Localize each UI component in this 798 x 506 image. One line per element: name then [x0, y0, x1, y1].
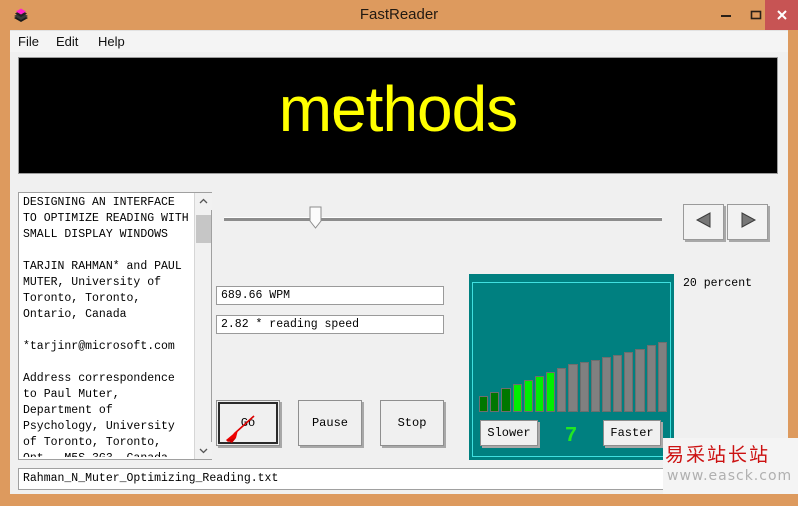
wpm-readout[interactable]: 689.66 WPM	[216, 286, 444, 305]
app-root: FastReader File Edit	[0, 0, 798, 506]
word-display-panel: methods	[18, 57, 778, 174]
close-button[interactable]	[765, 0, 798, 30]
speed-bar[interactable]	[524, 380, 533, 412]
speed-readout[interactable]: 2.82 * reading speed	[216, 315, 444, 334]
speed-bar[interactable]	[613, 355, 622, 412]
chevron-up-icon[interactable]	[195, 193, 212, 210]
speed-bar[interactable]	[535, 376, 544, 412]
next-arrow-icon	[737, 210, 759, 235]
status-bar-filename: Rahman_N_Muter_Optimizing_Reading.txt	[18, 468, 778, 490]
speed-bar[interactable]	[557, 368, 566, 412]
slower-button[interactable]: Slower	[480, 420, 538, 446]
speed-bar[interactable]	[602, 357, 611, 412]
document-text-panel[interactable]: DESIGNING AN INTERFACE TO OPTIMIZE READI…	[18, 192, 212, 460]
close-icon	[765, 0, 798, 30]
speed-bar[interactable]	[658, 342, 667, 412]
pause-button[interactable]: Pause	[298, 400, 362, 446]
speed-bar[interactable]	[490, 392, 499, 412]
chevron-down-icon[interactable]	[195, 442, 212, 459]
speed-bar[interactable]	[591, 360, 600, 412]
previous-arrow-icon	[693, 210, 715, 235]
menu-file[interactable]: File	[14, 33, 43, 51]
go-button[interactable]: Go	[216, 400, 280, 446]
client-area: methods DESIGNING AN INTERFACE TO OPTIMI…	[10, 52, 788, 494]
speed-level-panel: Slower 7 Faster	[469, 274, 674, 460]
current-word: methods	[19, 58, 777, 173]
stop-button[interactable]: Stop	[380, 400, 444, 446]
minimize-icon	[709, 0, 742, 30]
menu-help[interactable]: Help	[94, 33, 129, 51]
speed-bar[interactable]	[647, 345, 656, 412]
speed-bar[interactable]	[501, 388, 510, 412]
title-bar: FastReader	[0, 0, 798, 30]
speed-level-bars[interactable]	[479, 334, 667, 412]
scrollbar-thumb[interactable]	[196, 215, 211, 243]
text-panel-scrollbar[interactable]	[194, 193, 211, 459]
speed-bar[interactable]	[546, 372, 555, 412]
next-button[interactable]	[727, 204, 768, 240]
menu-edit[interactable]: Edit	[52, 33, 82, 51]
position-slider[interactable]	[216, 202, 666, 238]
speed-bar[interactable]	[635, 349, 644, 412]
faster-button[interactable]: Faster	[603, 420, 661, 446]
document-text: DESIGNING AN INTERFACE TO OPTIMIZE READI…	[23, 195, 191, 457]
speed-bar[interactable]	[568, 364, 577, 412]
menu-bar: File Edit Help	[10, 30, 788, 53]
speed-bar[interactable]	[479, 396, 488, 412]
slider-thumb[interactable]	[309, 206, 322, 230]
minimize-button[interactable]	[709, 0, 742, 30]
percent-label: 20 percent	[683, 277, 752, 290]
speed-level-value: 7	[551, 425, 591, 448]
speed-bar[interactable]	[624, 352, 633, 412]
speed-bar[interactable]	[513, 384, 522, 412]
window-title: FastReader	[0, 0, 798, 30]
previous-button[interactable]	[683, 204, 724, 240]
speed-bar[interactable]	[580, 362, 589, 412]
slider-track[interactable]	[224, 217, 662, 221]
